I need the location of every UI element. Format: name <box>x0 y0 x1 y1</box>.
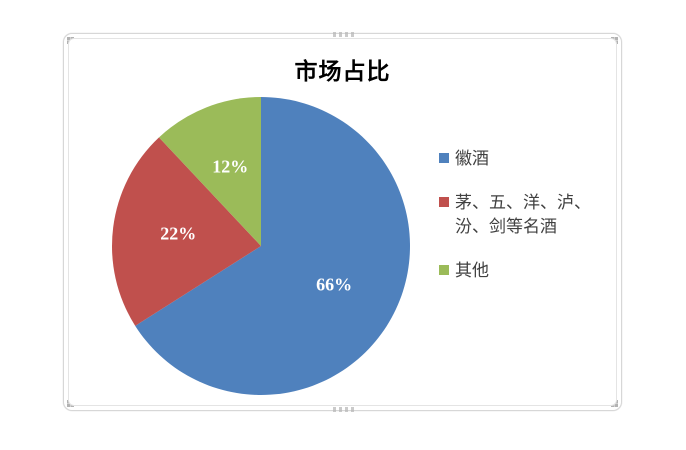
legend-item-label: 茅、五、洋、泸、汾、剑等名酒 <box>455 191 614 239</box>
pie-slice-value-label: 66% <box>316 274 352 294</box>
chart-title[interactable]: 市场占比 <box>69 52 616 86</box>
top-resize-grip[interactable] <box>333 32 355 37</box>
legend-color-swatch-icon <box>439 197 449 207</box>
legend-color-swatch-icon <box>439 153 449 163</box>
pie-slice-group <box>112 97 410 395</box>
bottom-resize-grip[interactable] <box>333 407 355 412</box>
pie-chart[interactable]: 66%22%12% <box>112 97 410 395</box>
legend-item-label: 徽酒 <box>455 147 489 171</box>
pie-slice-value-label: 22% <box>160 224 196 244</box>
legend-item[interactable]: 茅、五、洋、泸、汾、剑等名酒 <box>439 191 614 239</box>
pie-slice-value-label: 12% <box>212 157 248 177</box>
chart-inner-border: 市场占比 66%22%12% 徽酒茅、五、洋、泸、汾、剑等名酒其他 <box>68 38 617 406</box>
chart-object-frame[interactable]: 市场占比 66%22%12% 徽酒茅、五、洋、泸、汾、剑等名酒其他 <box>63 33 622 411</box>
plot-area[interactable]: 66%22%12% <box>112 97 410 395</box>
legend-item[interactable]: 其他 <box>439 259 614 283</box>
chart-legend[interactable]: 徽酒茅、五、洋、泸、汾、剑等名酒其他 <box>439 147 614 283</box>
legend-color-swatch-icon <box>439 265 449 275</box>
legend-item[interactable]: 徽酒 <box>439 147 614 171</box>
legend-item-label: 其他 <box>455 259 489 283</box>
